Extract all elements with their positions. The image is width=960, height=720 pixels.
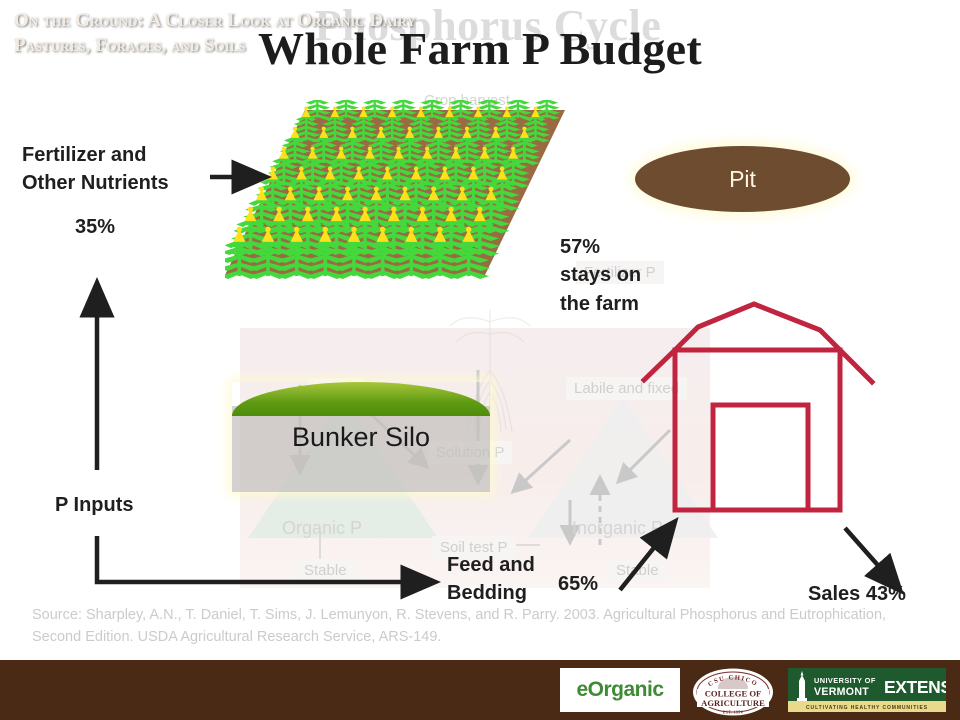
uvm-line2: VERMONT [814, 686, 869, 698]
label-feed-percent: 65% [558, 573, 598, 596]
csu-chico-college-of-agriculture-logo: CSU CHICO COLLEGE OF AGRICULTURE EST. 19… [692, 668, 774, 716]
uvm-extension-text: EXTENSION [884, 677, 946, 697]
label-fertilizer-percent: 35% [75, 216, 115, 239]
csu-chico-line1: COLLEGE OF [705, 689, 762, 699]
uvm-line1: UNIVERSITY OF [814, 676, 876, 685]
csu-chico-est: EST. 1954 [723, 711, 743, 715]
label-fertilizer-and-other-nutrients: Fertilizer and Other Nutrients [22, 142, 169, 197]
source-citation: Source: Sharpley, A.N., T. Daniel, T. Si… [32, 604, 922, 649]
footer-title: On the Ground: A Closer Look at Organic … [14, 8, 554, 58]
csu-chico-line2: AGRICULTURE [701, 698, 765, 708]
arrow-p-inputs-to-feed [97, 536, 432, 582]
eorganic-logo: eOrganic [560, 668, 680, 712]
label-sales-percent: Sales 43% [808, 583, 906, 606]
label-feed-and-bedding: Feed and Bedding [447, 551, 535, 608]
arrow-feed-to-barn [620, 524, 673, 590]
label-stays-on-farm: 57% stays on the farm [560, 233, 641, 318]
arrow-barn-to-sales [845, 528, 898, 588]
slide-canvas: Phosphorus Cycle [0, 0, 960, 720]
uvm-tagline: CULTIVATING HEALTHY COMMUNITIES [806, 705, 928, 711]
eorganic-logo-text: eOrganic [576, 678, 663, 702]
label-p-inputs: P Inputs [55, 494, 134, 517]
uvm-extension-logo: UNIVERSITY OF VERMONT EXTENSION CULTIVAT… [788, 668, 946, 712]
